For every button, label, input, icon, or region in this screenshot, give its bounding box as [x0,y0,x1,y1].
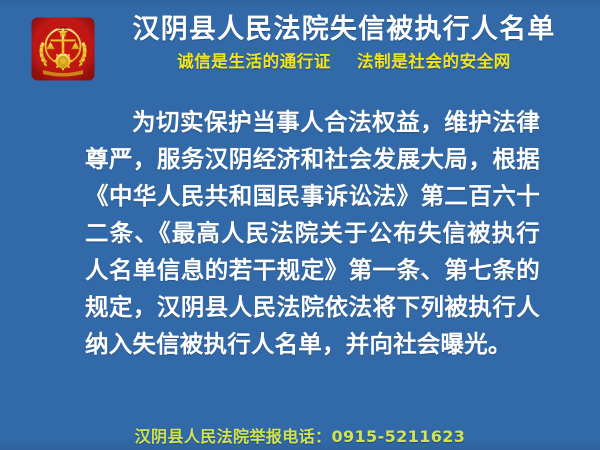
subtitle-left: 诚信是生活的通行证 [177,52,331,71]
subtitle-right: 法制是社会的安全网 [357,52,511,71]
poster-header: 汉阴县人民法院失信被执行人名单 诚信是生活的通行证法制是社会的安全网 [0,10,600,92]
poster-canvas: 汉阴县人民法院失信被执行人名单 诚信是生活的通行证法制是社会的安全网 为切实保护… [0,0,600,450]
page-subtitle: 诚信是生活的通行证法制是社会的安全网 [104,49,584,75]
notice-paragraph: 为切实保护当事人合法权益，维护法律尊严，服务汉阴经济和社会发展大局，根据《中华人… [85,104,540,363]
page-title: 汉阴县人民法院失信被执行人名单 [104,12,584,48]
report-hotline: 汉阴县人民法院举报电话：0915-5211623 [0,423,600,447]
title-block: 汉阴县人民法院失信被执行人名单 诚信是生活的通行证法制是社会的安全网 [104,12,584,75]
chinese-court-emblem-icon [30,16,96,82]
